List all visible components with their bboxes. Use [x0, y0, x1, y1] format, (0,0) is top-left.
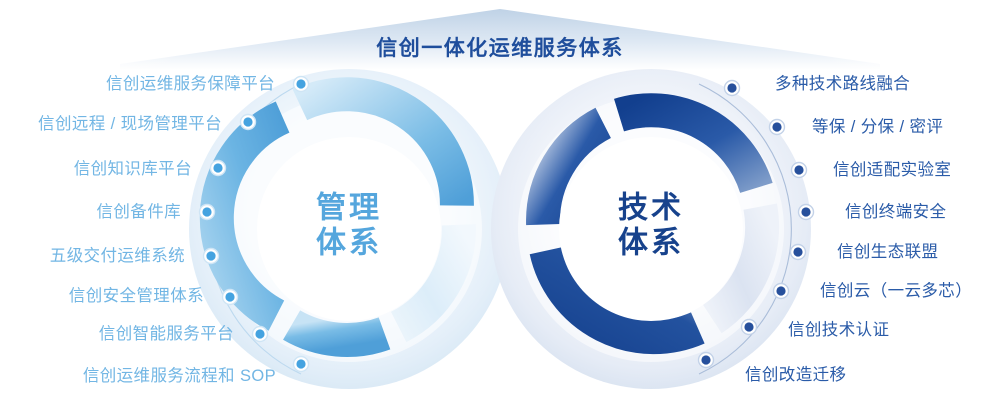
left-ring-caption-line1: 管理 [274, 191, 424, 226]
right-label-3[interactable]: 信创适配实验室 [833, 162, 951, 179]
right-label-1[interactable]: 多种技术路线融合 [775, 76, 910, 93]
left-label-1[interactable]: 信创运维服务保障平台 [106, 76, 275, 93]
left-ring-caption[interactable]: 管理 体系 [274, 191, 424, 262]
right-label-4[interactable]: 信创终端安全 [845, 204, 946, 221]
right-label-6[interactable]: 信创云（一云多芯） [820, 283, 972, 300]
right-label-2[interactable]: 等保 / 分保 / 密评 [812, 119, 943, 136]
right-label-7[interactable]: 信创技术认证 [788, 322, 889, 339]
left-label-8[interactable]: 信创运维服务流程和 SOP [83, 368, 276, 385]
right-ring-caption[interactable]: 技术 体系 [576, 191, 726, 262]
right-label-8[interactable]: 信创改造迁移 [745, 367, 846, 384]
left-ring-caption-line2: 体系 [274, 226, 424, 261]
left-label-5[interactable]: 五级交付运维系统 [50, 248, 185, 265]
right-ring-caption-line2: 体系 [576, 226, 726, 261]
right-label-5[interactable]: 信创生态联盟 [837, 244, 938, 261]
left-label-4[interactable]: 信创备件库 [97, 204, 182, 221]
left-label-3[interactable]: 信创知识库平台 [74, 161, 192, 178]
left-label-7[interactable]: 信创智能服务平台 [99, 326, 234, 343]
infographic-canvas: 信创一体化运维服务体系 [0, 0, 1000, 408]
left-label-6[interactable]: 信创安全管理体系 [69, 288, 204, 305]
left-label-2[interactable]: 信创远程 / 现场管理平台 [38, 116, 222, 133]
right-ring-caption-line1: 技术 [576, 191, 726, 226]
